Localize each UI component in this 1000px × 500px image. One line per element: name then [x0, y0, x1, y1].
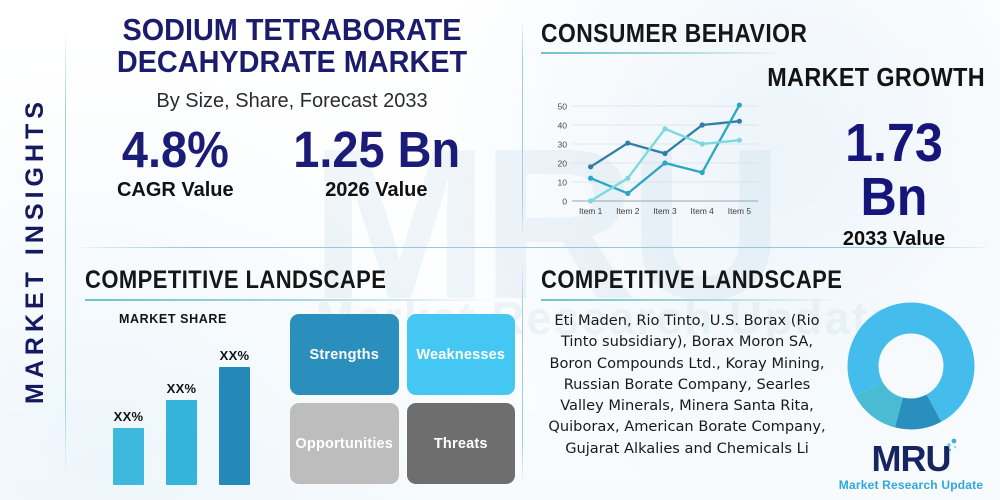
- market-growth-value: 1.73 Bn: [808, 116, 981, 224]
- swot-weaknesses-label: Weaknesses: [416, 347, 505, 363]
- svg-text:20: 20: [557, 158, 567, 168]
- infographic-canvas: MRU Market Research Update MARKET INSIGH…: [0, 0, 1000, 500]
- page-subtitle: By Size, Share, Forecast 2033: [72, 90, 512, 113]
- svg-text:50: 50: [557, 101, 567, 111]
- bar: [113, 428, 144, 485]
- side-label-text: MARKET INSIGHTS: [21, 97, 50, 404]
- market-growth-caption: 2033 Value: [801, 228, 987, 251]
- donut-chart-svg: [847, 302, 975, 430]
- svg-text:30: 30: [557, 139, 567, 149]
- bar: [166, 400, 197, 485]
- donut-chart-block: MRU Market Research Update: [835, 302, 987, 492]
- quadrant-bottom-right: COMPETITIVE LANDSCAPE Eti Maden, Rio Tin…: [541, 268, 989, 301]
- svg-text:Item 3: Item 3: [653, 206, 677, 216]
- swot-grid: Strengths Weaknesses Opportunities Threa…: [290, 314, 515, 484]
- svg-text:0: 0: [562, 196, 567, 206]
- consumer-behavior-line-chart: 01020304050Item 1Item 2Item 3Item 4Item …: [546, 98, 762, 223]
- divider-vertical-left: [65, 28, 66, 478]
- stat-group: 4.8% CAGR Value 1.25 Bn 2026 Value: [72, 123, 512, 202]
- divider-vertical-middle-bottom: [522, 262, 523, 484]
- bar-row: XX%XX%XX%: [95, 325, 285, 485]
- stat-cagr-value: 4.8%: [122, 123, 229, 177]
- svg-text:Item 2: Item 2: [616, 206, 640, 216]
- bar-item: XX%: [166, 381, 197, 485]
- top-right-body: 01020304050Item 1Item 2Item 3Item 4Item …: [541, 98, 989, 238]
- competitive-landscape-underline-right: [541, 299, 833, 301]
- swot-threats-label: Threats: [434, 436, 488, 452]
- consumer-behavior-underline: [541, 52, 779, 54]
- swot-weaknesses[interactable]: Weaknesses: [407, 314, 516, 395]
- bar-value-label: XX%: [114, 409, 144, 424]
- brand-mark-text: MRU: [872, 438, 951, 479]
- bubbles-icon: [945, 438, 961, 460]
- quadrant-bottom-left: COMPETITIVE LANDSCAPE MARKET SHARE XX%XX…: [85, 268, 515, 301]
- stat-cagr: 4.8% CAGR Value: [117, 123, 234, 202]
- bar-item: XX%: [219, 348, 250, 485]
- quadrant-top-left: SODIUM TETRABORATE DECAHYDRATE MARKET By…: [72, 14, 512, 202]
- stat-2026-caption: 2026 Value: [286, 179, 467, 202]
- brand-tagline: Market Research Update: [835, 478, 987, 492]
- divider-vertical-middle-top: [522, 18, 523, 240]
- side-label: MARKET INSIGHTS: [6, 0, 64, 500]
- swot-opportunities[interactable]: Opportunities: [290, 403, 399, 484]
- brand-mark: MRU: [872, 441, 951, 477]
- bar-value-label: XX%: [220, 348, 250, 363]
- company-list: Eti Maden, Rio Tinto, U.S. Borax (Rio Ti…: [541, 310, 833, 459]
- competitive-landscape-heading-left: COMPETITIVE LANDSCAPE: [85, 268, 463, 293]
- quadrant-top-right: CONSUMER BEHAVIOR MARKET GROWTH 01020304…: [541, 20, 989, 54]
- bottom-left-body: MARKET SHARE XX%XX%XX% Strengths Weaknes…: [85, 308, 515, 493]
- bar-value-label: XX%: [167, 381, 197, 396]
- swot-opportunities-label: Opportunities: [295, 436, 393, 452]
- market-growth-heading: MARKET GROWTH: [767, 62, 985, 93]
- svg-text:40: 40: [557, 120, 567, 130]
- svg-text:10: 10: [557, 177, 567, 187]
- market-share-bar-chart: MARKET SHARE XX%XX%XX%: [95, 308, 285, 493]
- stat-2026-value: 1.25 Bn: [293, 123, 460, 177]
- page-title: SODIUM TETRABORATE DECAHYDRATE MARKET: [87, 14, 496, 78]
- stat-cagr-caption: CAGR Value: [117, 179, 234, 202]
- swot-strengths[interactable]: Strengths: [290, 314, 399, 395]
- stat-2026: 1.25 Bn 2026 Value: [286, 123, 467, 202]
- competitive-landscape-underline-left: [85, 299, 485, 301]
- brand-logo: MRU Market Research Update: [835, 441, 987, 492]
- svg-text:Item 5: Item 5: [728, 206, 752, 216]
- market-growth-value-block: 1.73 Bn 2033 Value: [801, 116, 987, 251]
- line-chart-svg: 01020304050Item 1Item 2Item 3Item 4Item …: [546, 98, 762, 223]
- competitive-landscape-heading-right: COMPETITIVE LANDSCAPE: [541, 268, 935, 293]
- market-share-label: MARKET SHARE: [119, 312, 227, 326]
- swot-strengths-label: Strengths: [310, 347, 379, 363]
- svg-text:Item 4: Item 4: [691, 206, 715, 216]
- bar: [219, 367, 250, 485]
- svg-text:Item 1: Item 1: [579, 206, 603, 216]
- consumer-behavior-heading: CONSUMER BEHAVIOR: [541, 20, 935, 46]
- bar-item: XX%: [113, 409, 144, 485]
- swot-threats[interactable]: Threats: [407, 403, 516, 484]
